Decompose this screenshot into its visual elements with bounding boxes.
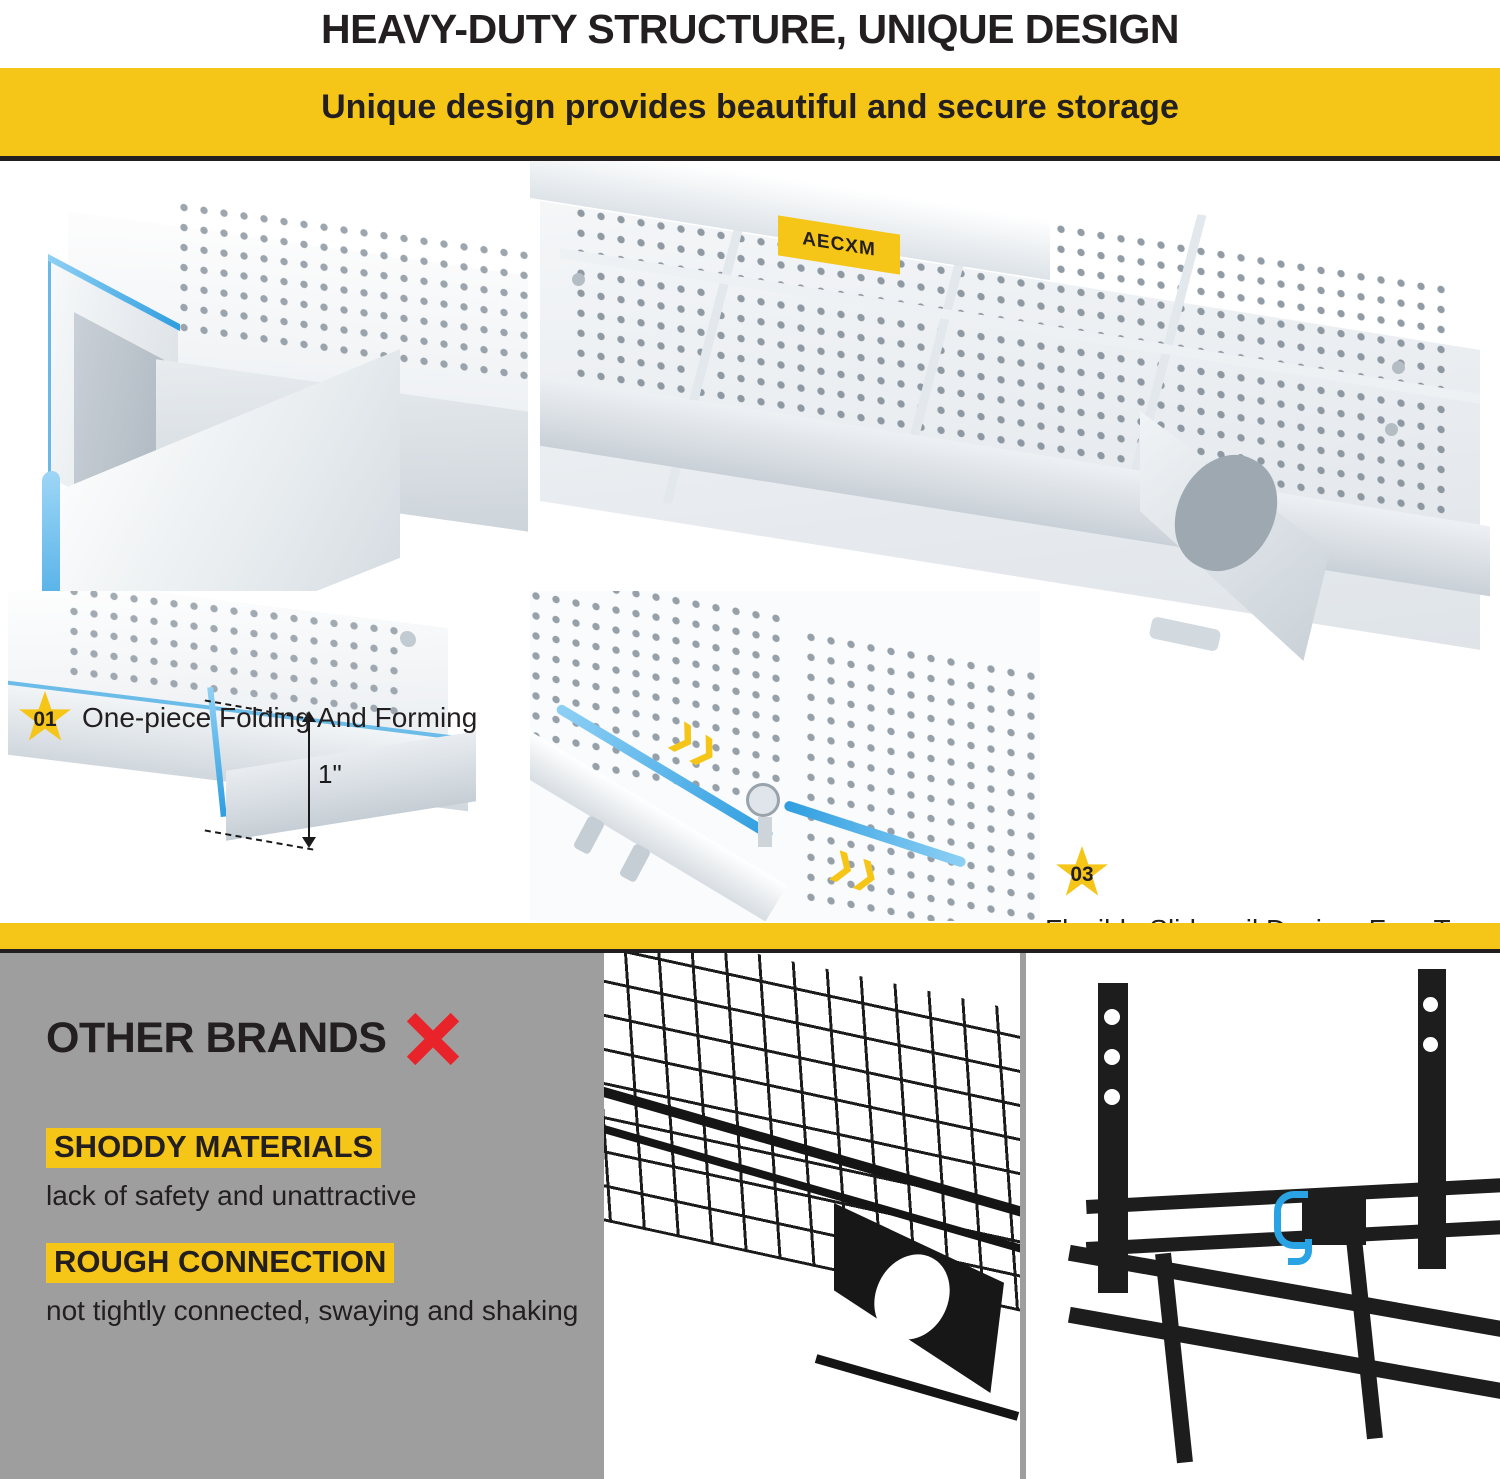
comparison-item-body: not tightly connected, swaying and shaki…	[46, 1293, 586, 1328]
post-hole	[1104, 1089, 1120, 1105]
mounting-hole	[1385, 423, 1398, 436]
callout-star-icon: 03	[1055, 846, 1109, 900]
comparison-section: OTHER BRANDS SHODDY MATERIALS lack of sa…	[0, 953, 1500, 1479]
comparison-item-1: SHODDY MATERIALS lack of safety and unat…	[46, 1128, 576, 1213]
callout-number: 01	[33, 708, 56, 732]
comparison-item-heading: ROUGH CONNECTION	[46, 1243, 394, 1283]
photo-competitor-wire-shelf	[604, 953, 1020, 1479]
comparison-text-panel: OTHER BRANDS SHODDY MATERIALS lack of sa…	[0, 953, 604, 1479]
post-hole	[1423, 1037, 1438, 1052]
cross-icon	[404, 1010, 460, 1066]
bracket-foot	[1148, 616, 1221, 652]
comparison-item-heading: SHODDY MATERIALS	[46, 1128, 381, 1168]
callout-star-icon: 01	[18, 691, 72, 745]
wire-shelf-scene	[604, 953, 1020, 1479]
photo-competitor-rack	[1026, 953, 1500, 1479]
product-photo-collage: AECXM 1"	[0, 161, 1500, 923]
dimension-label: 1"	[318, 759, 342, 790]
callout-01: 01 One-piece Folding And Forming	[18, 691, 477, 745]
dimension-arrow-down	[302, 837, 316, 848]
post-hole	[1423, 997, 1438, 1012]
callout-number: 03	[1070, 863, 1093, 887]
comparison-title: OTHER BRANDS	[46, 1014, 386, 1063]
rail-fastener	[746, 783, 780, 817]
post-hole	[1104, 1009, 1120, 1025]
header: HEAVY-DUTY STRUCTURE, UNIQUE DESIGN Uniq…	[0, 0, 1500, 160]
section-divider-band	[0, 923, 1500, 949]
comparison-item-body: lack of safety and unattractive	[46, 1178, 576, 1213]
comparison-item-2: ROUGH CONNECTION not tightly connected, …	[46, 1243, 586, 1328]
infographic-page: HEAVY-DUTY STRUCTURE, UNIQUE DESIGN Uniq…	[0, 0, 1500, 1479]
photo-slide-rail: ❯❯ ❯❯	[530, 591, 1040, 921]
brand-badge-label: AECXM	[802, 228, 876, 262]
page-subtitle: Unique design provides beautiful and sec…	[0, 88, 1500, 127]
page-title: HEAVY-DUTY STRUCTURE, UNIQUE DESIGN	[0, 6, 1500, 53]
comparison-title-row: OTHER BRANDS	[46, 1010, 460, 1066]
rail-bolt	[758, 817, 772, 847]
callout-label: One-piece Folding And Forming	[82, 702, 477, 734]
photo-corner-thickness: 1"	[8, 591, 528, 921]
post-hole	[1104, 1049, 1120, 1065]
mounting-hole	[1392, 361, 1405, 374]
mounting-hole	[572, 273, 585, 286]
